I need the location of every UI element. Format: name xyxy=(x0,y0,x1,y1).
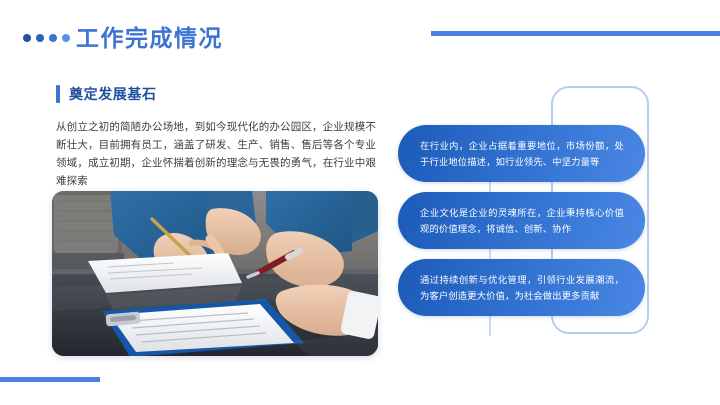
section-body-text: 从创立之初的简陋办公场地，到如今现代化的办公园区，企业规模不断壮大，目前拥有员工… xyxy=(56,118,376,190)
title-dots-decoration xyxy=(23,34,70,42)
section-heading-label: 奠定发展基石 xyxy=(69,84,157,104)
heading-accent-bar-icon xyxy=(56,85,60,103)
dot-icon-3 xyxy=(49,34,57,42)
pill-connector-2 xyxy=(489,249,491,259)
info-pill-1-text: 在行业内，企业占据着重要地位，市场份额，处于行业地位描述，如行业领先、中坚力量等 xyxy=(398,138,645,170)
info-pill-2-text: 企业文化是企业的灵魂所在，企业秉持核心价值观的价值理念，将诚信、创新、协作 xyxy=(398,205,645,237)
dot-icon-1 xyxy=(23,34,31,42)
top-right-accent-bar xyxy=(431,31,720,36)
dot-icon-2 xyxy=(36,34,44,42)
content-photo xyxy=(52,191,378,356)
dot-icon-4 xyxy=(62,34,70,42)
bottom-left-accent-bar xyxy=(0,377,100,382)
pill-connector-3 xyxy=(489,316,491,336)
page-title: 工作完成情况 xyxy=(76,23,223,53)
info-pill-3[interactable]: 通过持续创新与优化管理，引领行业发展潮流，为客户创造更大价值，为社会做出更多贡献 xyxy=(398,259,645,316)
photo-illustration xyxy=(52,191,378,356)
info-pill-1[interactable]: 在行业内，企业占据着重要地位，市场份额，处于行业地位描述，如行业领先、中坚力量等 xyxy=(398,125,645,182)
slide-root: 工作完成情况 奠定发展基石 从创立之初的简陋办公场地，到如今现代化的办公园区，企… xyxy=(0,0,720,405)
left-content-column: 奠定发展基石 从创立之初的简陋办公场地，到如今现代化的办公园区，企业规模不断壮大… xyxy=(56,84,386,190)
pill-connector-1 xyxy=(489,182,491,192)
section-heading: 奠定发展基石 xyxy=(56,84,386,106)
info-pill-3-text: 通过持续创新与优化管理，引领行业发展潮流，为客户创造更大价值，为社会做出更多贡献 xyxy=(398,272,645,304)
info-pill-2[interactable]: 企业文化是企业的灵魂所在，企业秉持核心价值观的价值理念，将诚信、创新、协作 xyxy=(398,192,645,249)
